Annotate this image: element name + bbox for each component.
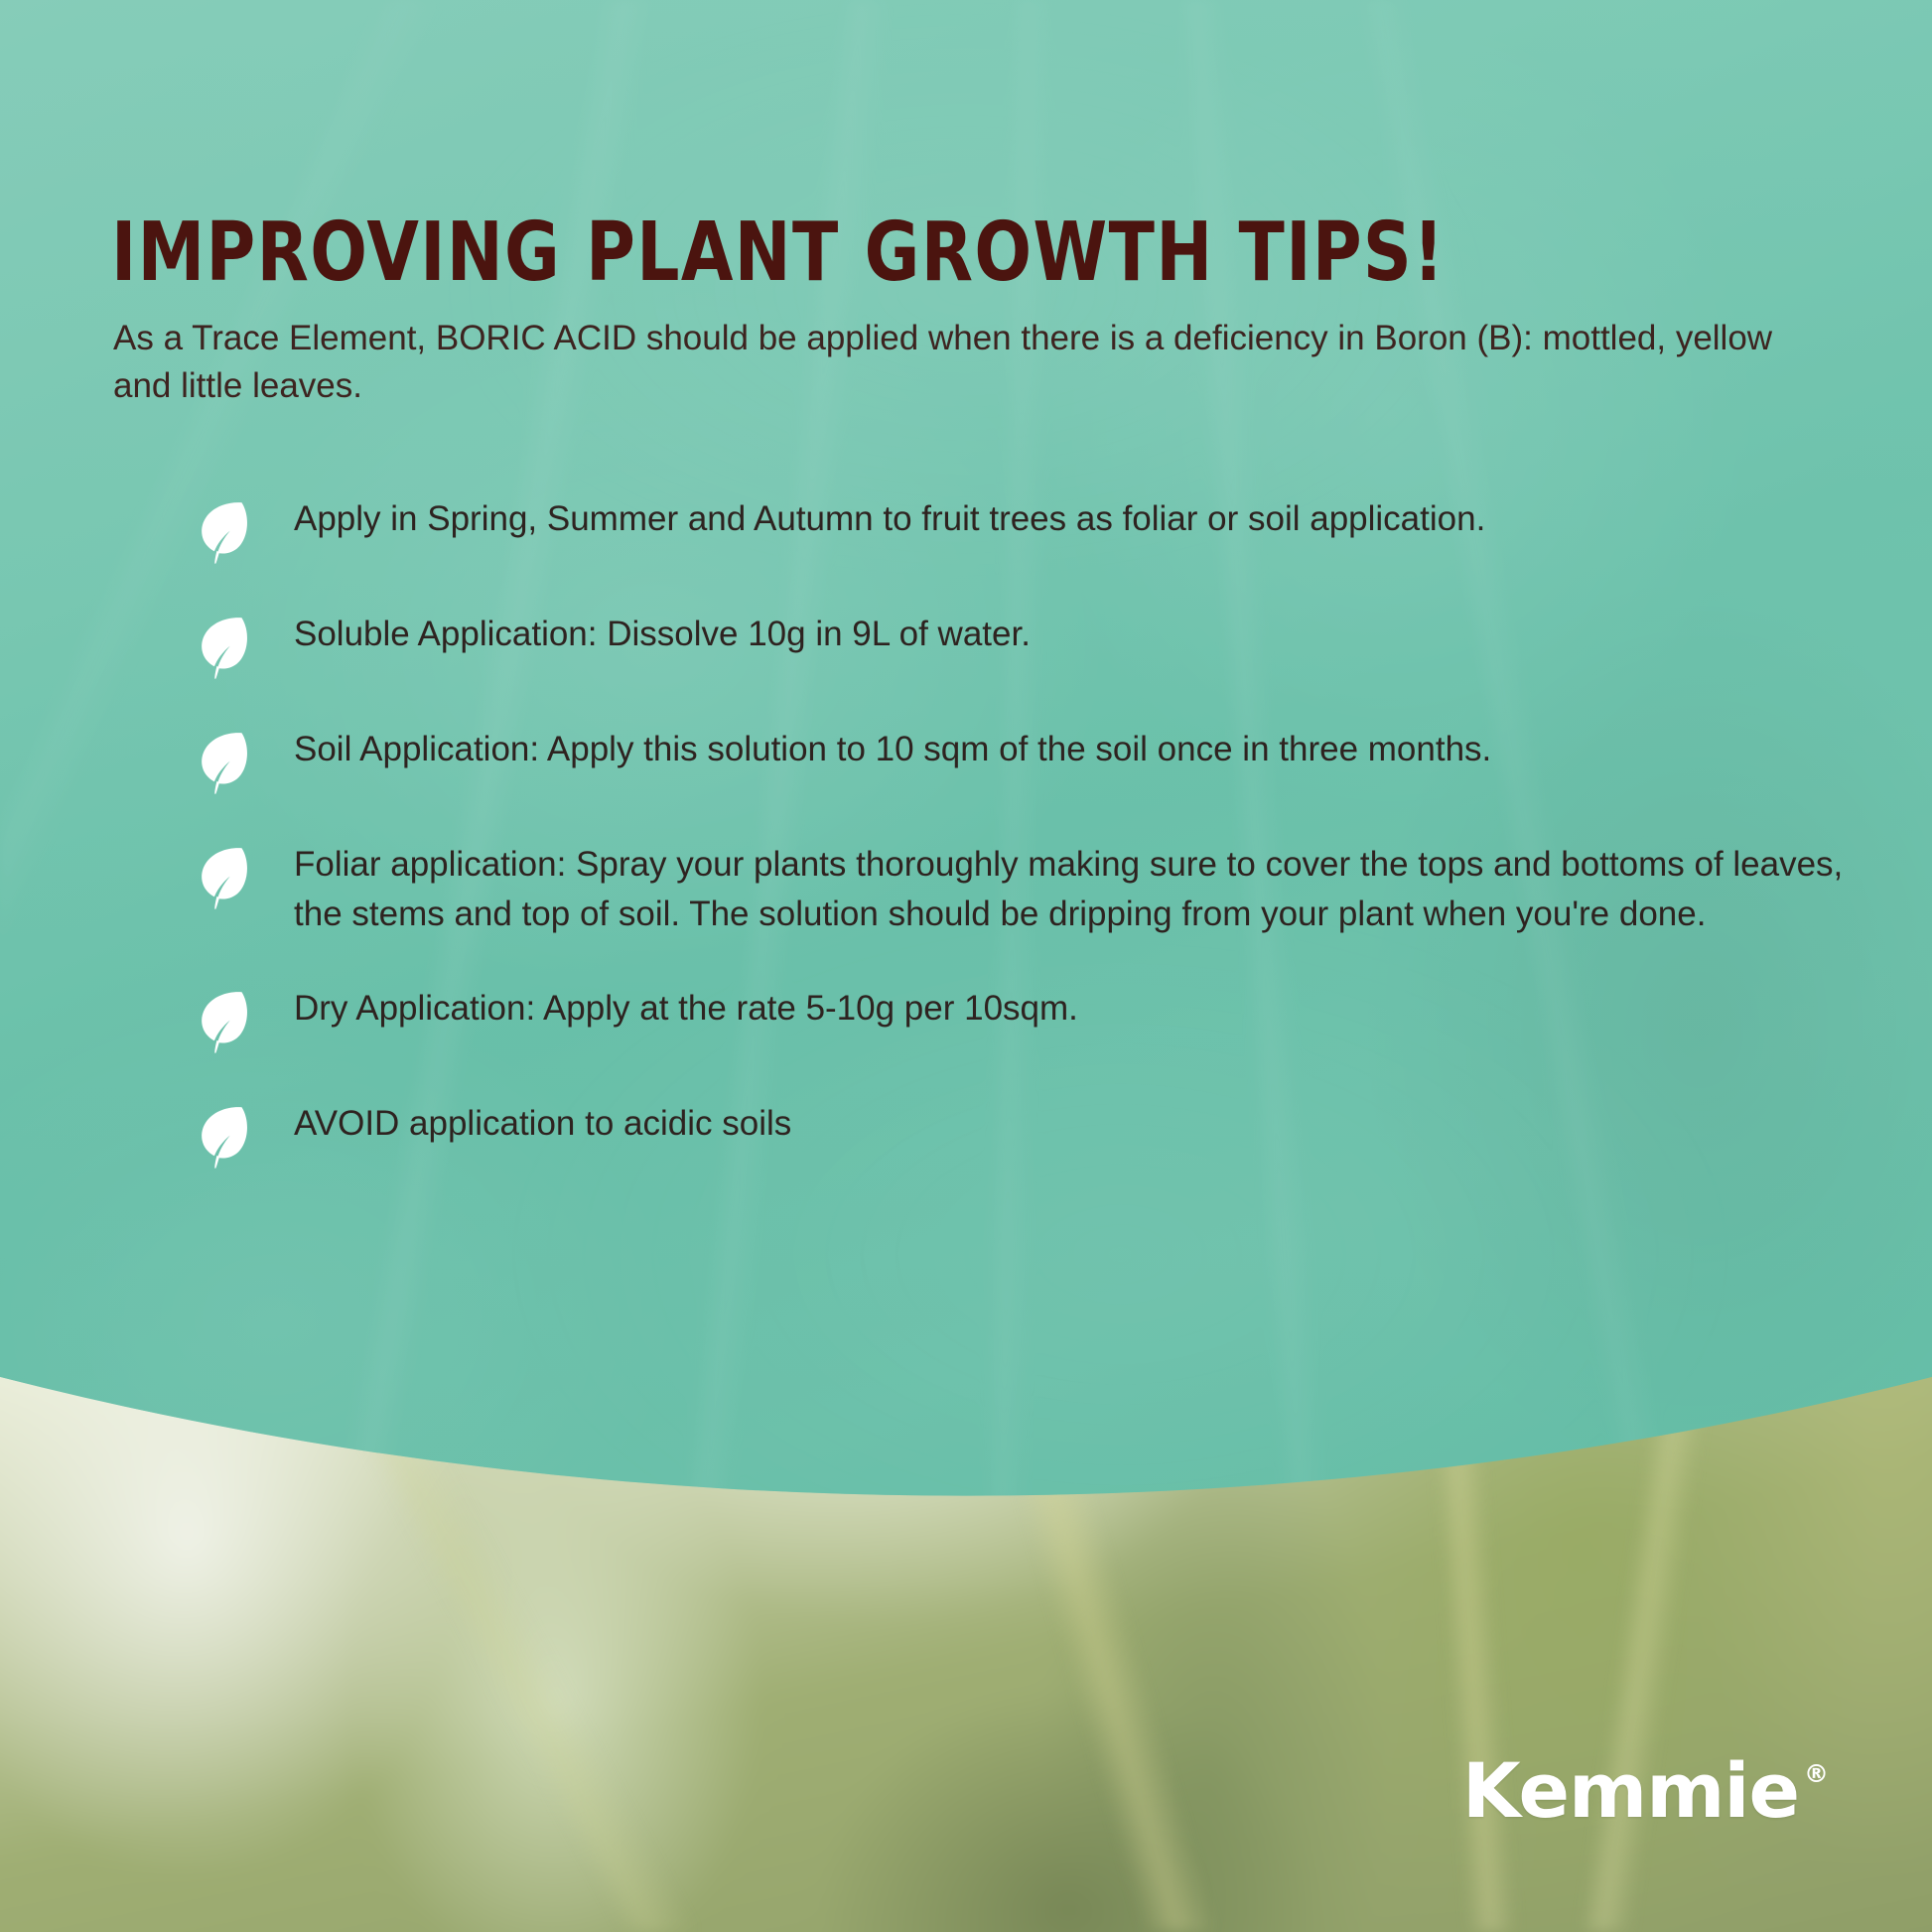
list-item-label: Dry Application: Apply at the rate 5-10g…	[294, 984, 1078, 1034]
leaf-icon	[195, 844, 252, 909]
leaf-icon	[195, 729, 252, 794]
leaf-icon	[195, 614, 252, 679]
leaf-icon	[195, 988, 252, 1053]
tips-list: Apply in Spring, Summer and Autumn to fr…	[195, 494, 1863, 1214]
list-item: Foliar application: Spray your plants th…	[195, 840, 1863, 938]
leaf-icon	[195, 1103, 252, 1169]
list-item-label: Foliar application: Spray your plants th…	[294, 840, 1855, 938]
registered-trademark-icon: ®	[1804, 1759, 1829, 1788]
list-item: Soil Application: Apply this solution to…	[195, 725, 1863, 794]
list-item-label: Apply in Spring, Summer and Autumn to fr…	[294, 494, 1485, 544]
brand-name: Kemmie	[1462, 1753, 1799, 1829]
page-title: IMPROVING PLANT GROWTH TIPS!	[111, 206, 1446, 300]
list-item-label: Soil Application: Apply this solution to…	[294, 725, 1491, 774]
list-item: Dry Application: Apply at the rate 5-10g…	[195, 984, 1863, 1053]
poster-canvas: IMPROVING PLANT GROWTH TIPS! As a Trace …	[0, 0, 1932, 1932]
leaf-icon	[195, 498, 252, 564]
list-item: AVOID application to acidic soils	[195, 1099, 1863, 1169]
list-item-label: Soluble Application: Dissolve 10g in 9L …	[294, 610, 1031, 659]
list-item: Apply in Spring, Summer and Autumn to fr…	[195, 494, 1863, 564]
list-item-label: AVOID application to acidic soils	[294, 1099, 791, 1149]
subtitle-text: As a Trace Element, BORIC ACID should be…	[113, 315, 1831, 411]
list-item: Soluble Application: Dissolve 10g in 9L …	[195, 610, 1863, 679]
brand-logo: Kemmie ®	[1462, 1753, 1829, 1829]
